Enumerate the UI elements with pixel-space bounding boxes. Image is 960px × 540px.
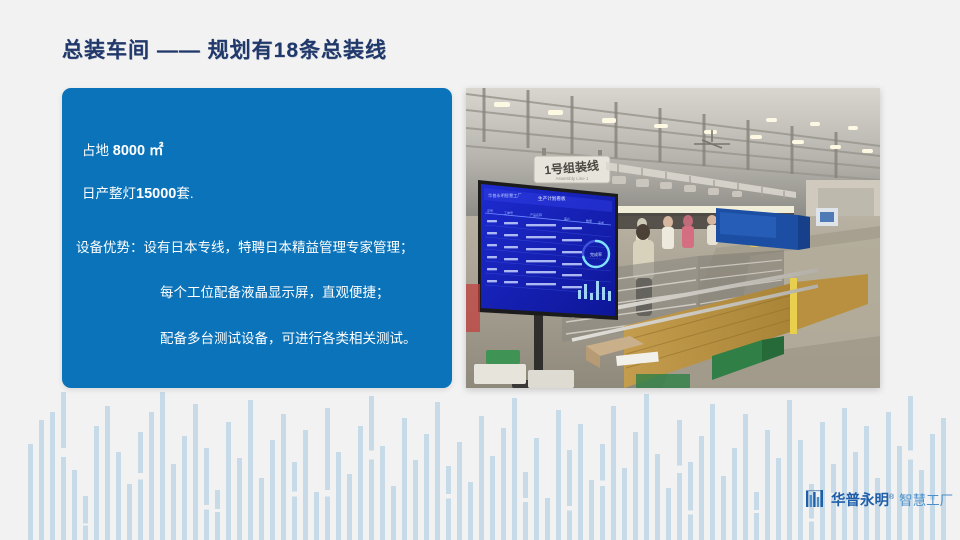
decorative-bar xyxy=(193,404,198,540)
decorative-bar xyxy=(358,426,363,540)
decorative-bar xyxy=(941,418,946,540)
decorative-bar xyxy=(105,406,110,540)
svg-text:完成: 完成 xyxy=(598,220,604,225)
decorative-bar xyxy=(424,434,429,540)
decorative-bar xyxy=(721,476,726,540)
decorative-bar xyxy=(149,412,154,540)
brand-logo: 华普永明® 智慧工厂 xyxy=(806,487,953,511)
decorative-bar xyxy=(116,452,121,540)
decorative-bar xyxy=(39,420,44,540)
decorative-bar xyxy=(468,482,473,540)
decorative-bar xyxy=(391,486,396,540)
panel-line-advantage-1: 设备优势：设有日本专线，特聘日本精益管理专家管理； xyxy=(76,240,414,256)
decorative-bar xyxy=(303,430,308,540)
decorative-bar xyxy=(655,454,660,540)
decorative-bar xyxy=(732,448,737,540)
decorative-bar xyxy=(248,400,253,540)
decorative-bar xyxy=(347,474,352,540)
decorative-bar xyxy=(171,464,176,540)
decorative-bar xyxy=(61,392,66,540)
decorative-bar xyxy=(435,402,440,540)
svg-text:Assembly Line 1: Assembly Line 1 xyxy=(555,176,589,181)
decorative-bar xyxy=(787,400,792,540)
decorative-bar xyxy=(864,426,869,540)
decorative-bar xyxy=(457,442,462,540)
decorative-bar xyxy=(380,446,385,540)
decorative-bar xyxy=(842,408,847,540)
panel-line-advantage-2: 每个工位配备液晶显示屏，直观便捷； xyxy=(160,285,390,301)
svg-text:生产计划看板: 生产计划看板 xyxy=(538,195,566,202)
decorative-bar xyxy=(688,462,693,540)
decorative-bar xyxy=(600,444,605,540)
decorative-bar xyxy=(160,392,165,540)
decorative-bar xyxy=(402,418,407,540)
decorative-bar xyxy=(886,412,891,540)
decorative-bar xyxy=(611,406,616,540)
panel-line-advantage-3: 配备多台测试设备，可进行各类相关测试。 xyxy=(160,331,417,347)
decorative-bar xyxy=(413,460,418,540)
panel-line-output: 日产整灯15000套. xyxy=(82,186,194,203)
svg-text:客户: 客户 xyxy=(564,216,570,221)
decorative-bar xyxy=(204,448,209,540)
decorative-bar xyxy=(138,432,143,540)
decorative-bar xyxy=(754,492,759,540)
decorative-bar xyxy=(556,410,561,540)
decorative-bar xyxy=(281,414,286,540)
factory-photo-illustration: 1号组装线 Assembly Line 1 xyxy=(466,88,880,388)
decorative-bar xyxy=(765,430,770,540)
svg-text:工单号: 工单号 xyxy=(504,210,513,215)
registered-trademark-symbol: ® xyxy=(889,494,894,501)
decorative-bar xyxy=(644,394,649,540)
panel-line-area-value: 8000 ㎡ xyxy=(113,143,164,159)
decorative-bar xyxy=(743,414,748,540)
decorative-bar xyxy=(534,438,539,540)
decorative-bar xyxy=(578,424,583,540)
decorative-bar xyxy=(567,450,572,540)
panel-line-output-suffix: 套. xyxy=(176,186,193,201)
brand-name-text: 华普永明 xyxy=(831,493,889,509)
decorative-bar xyxy=(501,428,506,540)
svg-text:华普永明智慧工厂: 华普永明智慧工厂 xyxy=(488,192,522,199)
decorative-bar xyxy=(820,422,825,540)
brand-name: 华普永明® xyxy=(831,489,894,510)
decorative-bar xyxy=(314,492,319,540)
decorative-bar xyxy=(72,470,77,540)
decorative-bar xyxy=(83,496,88,540)
decorative-bar xyxy=(127,484,132,540)
svg-text:序号: 序号 xyxy=(487,208,493,213)
panel-line-output-value: 15000 xyxy=(136,186,176,202)
decorative-bar xyxy=(94,426,99,540)
decorative-bar xyxy=(292,462,297,540)
decorative-bar xyxy=(479,416,484,540)
decorative-bar xyxy=(336,452,341,540)
brand-tagline: 智慧工厂 xyxy=(899,489,953,509)
decorative-bar xyxy=(50,412,55,540)
panel-line-output-prefix: 日产整灯 xyxy=(82,186,136,201)
decorative-bar xyxy=(699,436,704,540)
decorative-bar xyxy=(523,472,528,540)
decorative-bar xyxy=(325,408,330,540)
decorative-bar xyxy=(259,478,264,540)
decorative-bar xyxy=(237,458,242,540)
svg-text:产品名称: 产品名称 xyxy=(530,212,542,217)
decorative-bar xyxy=(512,398,517,540)
factory-photo: 1号组装线 Assembly Line 1 xyxy=(466,88,880,388)
panel-line-area: 占地 8000 ㎡ xyxy=(82,143,164,160)
decorative-bar xyxy=(182,436,187,540)
decorative-bar xyxy=(28,444,33,540)
decorative-bar xyxy=(798,440,803,540)
decorative-bar xyxy=(215,490,220,540)
svg-text:数量: 数量 xyxy=(586,218,592,223)
decorative-bar xyxy=(446,466,451,540)
decorative-bar xyxy=(908,396,913,540)
decorative-bar xyxy=(545,498,550,540)
decorative-bar xyxy=(666,488,671,540)
page-title: 总装车间 —— 规划有18条总装线 xyxy=(62,34,387,64)
decorative-bar-field xyxy=(0,392,960,540)
decorative-bar xyxy=(226,422,231,540)
decorative-bar xyxy=(369,396,374,540)
info-panel: 占地 8000 ㎡ 日产整灯15000套. 设备优势：设有日本专线，特聘日本精益… xyxy=(62,88,452,388)
decorative-bar xyxy=(589,480,594,540)
decorative-bar xyxy=(776,458,781,540)
decorative-bar xyxy=(622,468,627,540)
decorative-bar xyxy=(677,420,682,540)
decorative-bar xyxy=(710,404,715,540)
decorative-bar xyxy=(270,440,275,540)
decorative-bar xyxy=(490,456,495,540)
huapu-logo-mark-icon xyxy=(806,490,826,508)
decorative-bar xyxy=(633,432,638,540)
svg-text:完成率: 完成率 xyxy=(590,251,602,257)
panel-line-area-prefix: 占地 xyxy=(82,143,113,158)
slide-canvas: 总装车间 —— 规划有18条总装线 占地 8000 ㎡ 日产整灯15000套. … xyxy=(0,0,960,540)
